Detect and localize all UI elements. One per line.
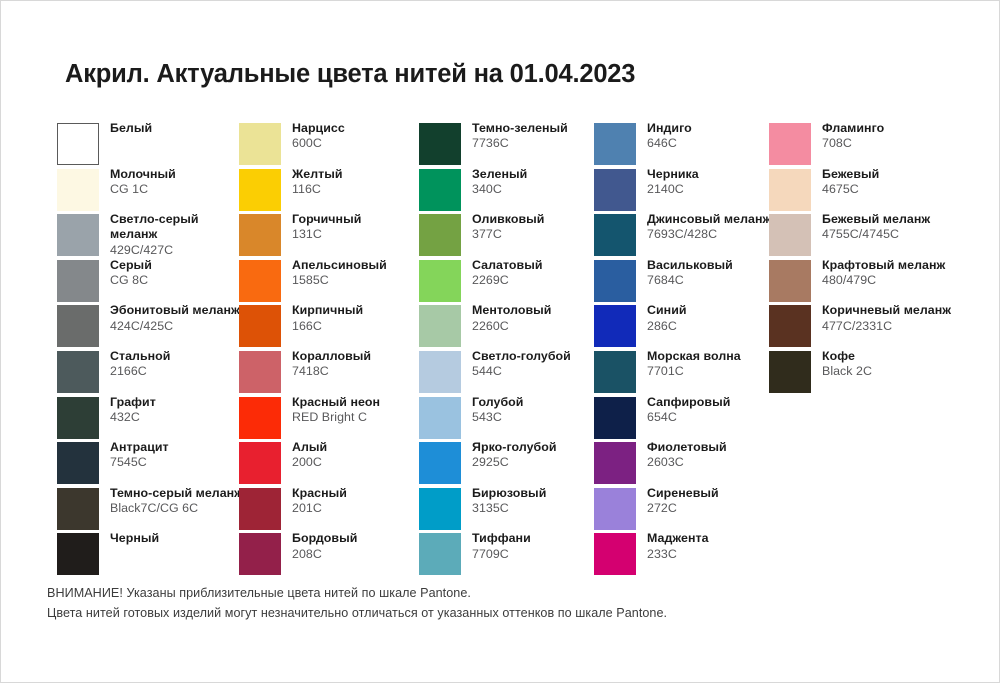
swatch-pantone-code: 377C xyxy=(472,227,604,242)
swatch-name: Зеленый xyxy=(472,167,604,182)
swatch-row[interactable]: Белый xyxy=(57,123,247,169)
swatch-name: Молочный xyxy=(110,167,247,182)
swatch-row[interactable]: Оливковый377C xyxy=(419,214,604,260)
swatch-pantone-code: 2603C xyxy=(647,455,779,470)
swatch-row[interactable]: Фламинго708C xyxy=(769,123,964,169)
swatch-pantone-code: 131C xyxy=(292,227,429,242)
swatch-name: Фиолетовый xyxy=(647,440,779,455)
swatch-name: Бежевый xyxy=(822,167,964,182)
swatch-row[interactable]: Красный201C xyxy=(239,488,429,534)
swatch-row[interactable]: Бежевый4675C xyxy=(769,169,964,215)
color-swatch[interactable] xyxy=(239,305,281,347)
swatch-name: Темно-серый меланж xyxy=(110,486,247,501)
swatch-labels: Бежевый меланж4755C/4745C xyxy=(822,212,964,242)
color-swatch[interactable] xyxy=(594,169,636,211)
color-swatch[interactable] xyxy=(419,442,461,484)
color-swatch[interactable] xyxy=(769,169,811,211)
color-swatch[interactable] xyxy=(239,397,281,439)
swatch-name: Маджента xyxy=(647,531,779,546)
swatch-name: Тиффани xyxy=(472,531,604,546)
swatch-pantone-code: 2140C xyxy=(647,182,779,197)
swatch-row[interactable]: Сапфировый654C xyxy=(594,397,779,443)
color-swatch[interactable] xyxy=(769,351,811,393)
swatch-pantone-code: 116C xyxy=(292,182,429,197)
swatch-pantone-code: 286C xyxy=(647,319,779,334)
swatch-name: Стальной xyxy=(110,349,247,364)
swatch-row[interactable]: Ярко-голубой2925C xyxy=(419,442,604,488)
swatch-labels: Черника2140C xyxy=(647,167,779,197)
swatch-name: Светло-голубой xyxy=(472,349,604,364)
swatch-row[interactable]: Коричневый меланж477C/2331C xyxy=(769,305,964,351)
swatch-row[interactable]: Графит432C xyxy=(57,397,247,443)
swatch-pantone-code: Black 2C xyxy=(822,364,964,379)
swatch-name: Алый xyxy=(292,440,429,455)
swatch-name: Голубой xyxy=(472,395,604,410)
swatch-pantone-code: Black7C/CG 6C xyxy=(110,501,247,516)
footer-line-1: ВНИМАНИЕ! Указаны приблизительные цвета … xyxy=(47,584,947,604)
swatch-labels: Темно-зеленый7736C xyxy=(472,121,604,151)
swatch-pantone-code: 4755C/4745C xyxy=(822,227,964,242)
swatch-row[interactable]: Тиффани7709C xyxy=(419,533,604,579)
swatch-row[interactable]: Коралловый7418C xyxy=(239,351,429,397)
color-swatch[interactable] xyxy=(239,533,281,575)
swatch-row[interactable]: Антрацит7545C xyxy=(57,442,247,488)
swatch-row[interactable]: Морская волна7701C xyxy=(594,351,779,397)
swatch-row[interactable]: Фиолетовый2603C xyxy=(594,442,779,488)
swatch-name: Кирпичный xyxy=(292,303,429,318)
swatch-pantone-code: 7418C xyxy=(292,364,429,379)
swatch-row[interactable]: Нарцисс600C xyxy=(239,123,429,169)
swatch-pantone-code: CG 8C xyxy=(110,273,247,288)
swatch-row[interactable]: Салатовый2269C xyxy=(419,260,604,306)
swatch-name: Ярко-голубой xyxy=(472,440,604,455)
swatch-labels: Васильковый7684C xyxy=(647,258,779,288)
swatch-labels: Крафтовый меланж480/479C xyxy=(822,258,964,288)
color-swatch[interactable] xyxy=(419,123,461,165)
footer-notes: ВНИМАНИЕ! Указаны приблизительные цвета … xyxy=(47,584,947,623)
swatch-pantone-code: 1585C xyxy=(292,273,429,288)
swatch-row[interactable]: СерыйCG 8C xyxy=(57,260,247,306)
swatch-labels: Ментоловый2260C xyxy=(472,303,604,333)
swatch-column: Нарцисс600CЖелтый116CГорчичный131CАпельс… xyxy=(239,123,429,579)
swatch-name: Антрацит xyxy=(110,440,247,455)
swatch-pantone-code: 7736C xyxy=(472,136,604,151)
color-swatch[interactable] xyxy=(419,533,461,575)
color-swatch[interactable] xyxy=(419,351,461,393)
swatch-pantone-code: 4675C xyxy=(822,182,964,197)
swatch-labels: Фламинго708C xyxy=(822,121,964,151)
swatch-name: Апельсиновый xyxy=(292,258,429,273)
swatch-name: Ментоловый xyxy=(472,303,604,318)
swatch-row[interactable]: Черный xyxy=(57,533,247,579)
swatch-labels: Тиффани7709C xyxy=(472,531,604,561)
footer-line-2: Цвета нитей готовых изделий могут незнач… xyxy=(47,604,947,624)
swatch-labels: Бордовый208C xyxy=(292,531,429,561)
swatch-row[interactable]: Эбонитовый меланж424C/425C xyxy=(57,305,247,351)
color-swatch[interactable] xyxy=(57,123,99,165)
swatch-labels: Бирюзовый3135C xyxy=(472,486,604,516)
swatch-labels: Коралловый7418C xyxy=(292,349,429,379)
swatch-labels: Салатовый2269C xyxy=(472,258,604,288)
swatch-name: Бордовый xyxy=(292,531,429,546)
swatch-row[interactable]: Светло-голубой544C xyxy=(419,351,604,397)
swatch-pantone-code: 480/479C xyxy=(822,273,964,288)
color-swatch[interactable] xyxy=(769,305,811,347)
swatch-row[interactable]: Зеленый340C xyxy=(419,169,604,215)
swatch-pantone-code: 340C xyxy=(472,182,604,197)
swatch-row[interactable]: Бежевый меланж4755C/4745C xyxy=(769,214,964,260)
color-swatch[interactable] xyxy=(239,260,281,302)
swatch-pantone-code: 2269C xyxy=(472,273,604,288)
color-swatch[interactable] xyxy=(419,169,461,211)
color-swatch[interactable] xyxy=(239,214,281,256)
swatch-name: Синий xyxy=(647,303,779,318)
swatch-pantone-code: 2166C xyxy=(110,364,247,379)
swatch-name: Джинсовый меланж xyxy=(647,212,779,227)
swatch-name: Индиго xyxy=(647,121,779,136)
color-swatch[interactable] xyxy=(594,488,636,530)
swatch-pantone-code: RED Bright C xyxy=(292,410,429,425)
color-swatch[interactable] xyxy=(594,533,636,575)
swatch-name: Оливковый xyxy=(472,212,604,227)
color-swatch[interactable] xyxy=(419,214,461,256)
swatch-pantone-code: 7684C xyxy=(647,273,779,288)
color-swatch[interactable] xyxy=(419,260,461,302)
swatch-labels: Голубой543C xyxy=(472,395,604,425)
swatch-labels: Апельсиновый1585C xyxy=(292,258,429,288)
swatch-name: Бежевый меланж xyxy=(822,212,964,227)
color-swatch[interactable] xyxy=(57,169,99,211)
swatch-row[interactable]: Желтый116C xyxy=(239,169,429,215)
swatch-labels: Антрацит7545C xyxy=(110,440,247,470)
swatch-name: Темно-зеленый xyxy=(472,121,604,136)
swatch-pantone-code: 3135C xyxy=(472,501,604,516)
swatch-labels: Черный xyxy=(110,531,247,546)
swatch-pantone-code: 7545C xyxy=(110,455,247,470)
swatch-pantone-code: 429C/427C xyxy=(110,243,247,258)
swatch-labels: Кирпичный166C xyxy=(292,303,429,333)
swatch-row[interactable]: Синий286C xyxy=(594,305,779,351)
swatch-row[interactable]: Стальной2166C xyxy=(57,351,247,397)
color-swatch[interactable] xyxy=(769,214,811,256)
color-swatch[interactable] xyxy=(594,260,636,302)
swatch-pantone-code: 233C xyxy=(647,547,779,562)
swatch-row[interactable]: Маджента233C xyxy=(594,533,779,579)
swatch-labels: Бежевый4675C xyxy=(822,167,964,197)
color-swatch[interactable] xyxy=(594,442,636,484)
swatch-row[interactable]: Индиго646C xyxy=(594,123,779,169)
swatch-labels: КофеBlack 2C xyxy=(822,349,964,379)
color-swatch[interactable] xyxy=(239,169,281,211)
swatch-pantone-code: 201C xyxy=(292,501,429,516)
swatch-labels: Красный неонRED Bright C xyxy=(292,395,429,425)
swatch-labels: Стальной2166C xyxy=(110,349,247,379)
swatch-labels: Ярко-голубой2925C xyxy=(472,440,604,470)
swatch-labels: Сиреневый272C xyxy=(647,486,779,516)
swatch-pantone-code: 600C xyxy=(292,136,429,151)
swatch-name: Горчичный xyxy=(292,212,429,227)
swatch-name: Сиреневый xyxy=(647,486,779,501)
swatch-name: Коралловый xyxy=(292,349,429,364)
swatch-labels: Белый xyxy=(110,121,247,136)
color-swatch[interactable] xyxy=(57,351,99,393)
swatch-name: Бирюзовый xyxy=(472,486,604,501)
swatch-labels: Коричневый меланж477C/2331C xyxy=(822,303,964,333)
swatch-row[interactable]: Бирюзовый3135C xyxy=(419,488,604,534)
swatch-pantone-code: CG 1C xyxy=(110,182,247,197)
color-swatch[interactable] xyxy=(594,351,636,393)
swatch-row[interactable]: Голубой543C xyxy=(419,397,604,443)
swatch-labels: СерыйCG 8C xyxy=(110,258,247,288)
swatch-row[interactable]: Горчичный131C xyxy=(239,214,429,260)
swatch-labels: Маджента233C xyxy=(647,531,779,561)
page-title: Акрил. Актуальные цвета нитей на 01.04.2… xyxy=(65,60,635,89)
swatch-name: Светло-серый меланж xyxy=(110,212,247,242)
swatch-name: Эбонитовый меланж xyxy=(110,303,247,318)
swatch-labels: Фиолетовый2603C xyxy=(647,440,779,470)
swatch-row[interactable]: Черника2140C xyxy=(594,169,779,215)
swatch-column: Фламинго708CБежевый4675CБежевый меланж47… xyxy=(769,123,964,397)
swatch-name: Фламинго xyxy=(822,121,964,136)
swatch-name: Серый xyxy=(110,258,247,273)
swatch-pantone-code: 646C xyxy=(647,136,779,151)
swatch-name: Коричневый меланж xyxy=(822,303,964,318)
swatch-name: Сапфировый xyxy=(647,395,779,410)
swatch-labels: Красный201C xyxy=(292,486,429,516)
swatch-row[interactable]: Красный неонRED Bright C xyxy=(239,397,429,443)
color-swatch[interactable] xyxy=(57,488,99,530)
swatch-pantone-code: 543C xyxy=(472,410,604,425)
swatch-labels: Зеленый340C xyxy=(472,167,604,197)
color-swatch[interactable] xyxy=(57,442,99,484)
swatch-row[interactable]: Кирпичный166C xyxy=(239,305,429,351)
swatch-pantone-code: 544C xyxy=(472,364,604,379)
color-swatch[interactable] xyxy=(239,123,281,165)
swatch-labels: Сапфировый654C xyxy=(647,395,779,425)
swatch-name: Крафтовый меланж xyxy=(822,258,964,273)
color-swatch[interactable] xyxy=(769,123,811,165)
swatch-name: Красный xyxy=(292,486,429,501)
swatch-pantone-code: 654C xyxy=(647,410,779,425)
swatch-pantone-code: 424C/425C xyxy=(110,319,247,334)
swatch-name: Желтый xyxy=(292,167,429,182)
color-swatch[interactable] xyxy=(57,214,99,256)
swatch-pantone-code: 7693C/428C xyxy=(647,227,779,242)
swatch-labels: Синий286C xyxy=(647,303,779,333)
color-swatch[interactable] xyxy=(419,488,461,530)
swatch-name: Морская волна xyxy=(647,349,779,364)
swatch-pantone-code: 7709C xyxy=(472,547,604,562)
swatch-pantone-code: 166C xyxy=(292,319,429,334)
swatch-labels: Темно-серый меланжBlack7C/CG 6C xyxy=(110,486,247,516)
swatch-name: Нарцисс xyxy=(292,121,429,136)
swatch-pantone-code: 2925C xyxy=(472,455,604,470)
color-swatch[interactable] xyxy=(594,305,636,347)
swatch-row[interactable]: Темно-серый меланжBlack7C/CG 6C xyxy=(57,488,247,534)
swatch-row[interactable]: Сиреневый272C xyxy=(594,488,779,534)
color-swatch[interactable] xyxy=(239,442,281,484)
swatch-row[interactable]: Джинсовый меланж7693C/428C xyxy=(594,214,779,260)
swatch-column: Темно-зеленый7736CЗеленый340CОливковый37… xyxy=(419,123,604,579)
swatch-labels: Джинсовый меланж7693C/428C xyxy=(647,212,779,242)
color-swatch[interactable] xyxy=(594,123,636,165)
swatch-row[interactable]: Светло-серый меланж429C/427C xyxy=(57,214,247,260)
swatch-row[interactable]: КофеBlack 2C xyxy=(769,351,964,397)
swatch-name: Васильковый xyxy=(647,258,779,273)
color-swatch[interactable] xyxy=(769,260,811,302)
swatch-name: Белый xyxy=(110,121,247,136)
swatch-column: Индиго646CЧерника2140CДжинсовый меланж76… xyxy=(594,123,779,579)
swatch-labels: Индиго646C xyxy=(647,121,779,151)
color-swatch[interactable] xyxy=(419,305,461,347)
swatch-pantone-code: 272C xyxy=(647,501,779,516)
swatch-labels: МолочныйCG 1C xyxy=(110,167,247,197)
swatch-name: Черника xyxy=(647,167,779,182)
swatch-labels: Светло-серый меланж429C/427C xyxy=(110,212,247,258)
color-swatch[interactable] xyxy=(57,260,99,302)
swatch-labels: Оливковый377C xyxy=(472,212,604,242)
swatch-pantone-code: 477C/2331C xyxy=(822,319,964,334)
swatch-labels: Желтый116C xyxy=(292,167,429,197)
color-swatch[interactable] xyxy=(419,397,461,439)
swatch-row[interactable]: Бордовый208C xyxy=(239,533,429,579)
swatch-pantone-code: 2260C xyxy=(472,319,604,334)
color-swatch[interactable] xyxy=(57,397,99,439)
swatch-pantone-code: 200C xyxy=(292,455,429,470)
color-chart-page: Акрил. Актуальные цвета нитей на 01.04.2… xyxy=(0,0,1000,683)
color-swatch[interactable] xyxy=(57,533,99,575)
swatch-labels: Алый200C xyxy=(292,440,429,470)
color-swatch[interactable] xyxy=(594,214,636,256)
swatch-row[interactable]: Крафтовый меланж480/479C xyxy=(769,260,964,306)
swatch-labels: Графит432C xyxy=(110,395,247,425)
swatch-column: БелыйМолочныйCG 1CСветло-серый меланж429… xyxy=(57,123,247,579)
swatch-labels: Эбонитовый меланж424C/425C xyxy=(110,303,247,333)
swatch-row[interactable]: Апельсиновый1585C xyxy=(239,260,429,306)
swatch-row[interactable]: Алый200C xyxy=(239,442,429,488)
swatch-name: Красный неон xyxy=(292,395,429,410)
swatch-name: Салатовый xyxy=(472,258,604,273)
swatch-row[interactable]: МолочныйCG 1C xyxy=(57,169,247,215)
swatch-labels: Горчичный131C xyxy=(292,212,429,242)
swatch-labels: Морская волна7701C xyxy=(647,349,779,379)
color-swatch[interactable] xyxy=(239,351,281,393)
swatch-row[interactable]: Ментоловый2260C xyxy=(419,305,604,351)
swatch-pantone-code: 432C xyxy=(110,410,247,425)
swatch-pantone-code: 7701C xyxy=(647,364,779,379)
swatch-pantone-code: 708C xyxy=(822,136,964,151)
swatch-name: Черный xyxy=(110,531,247,546)
swatch-name: Кофе xyxy=(822,349,964,364)
color-swatch[interactable] xyxy=(594,397,636,439)
swatch-labels: Нарцисс600C xyxy=(292,121,429,151)
swatch-labels: Светло-голубой544C xyxy=(472,349,604,379)
color-swatch[interactable] xyxy=(239,488,281,530)
color-swatch[interactable] xyxy=(57,305,99,347)
swatch-name: Графит xyxy=(110,395,247,410)
swatch-row[interactable]: Темно-зеленый7736C xyxy=(419,123,604,169)
swatch-row[interactable]: Васильковый7684C xyxy=(594,260,779,306)
swatch-pantone-code: 208C xyxy=(292,547,429,562)
